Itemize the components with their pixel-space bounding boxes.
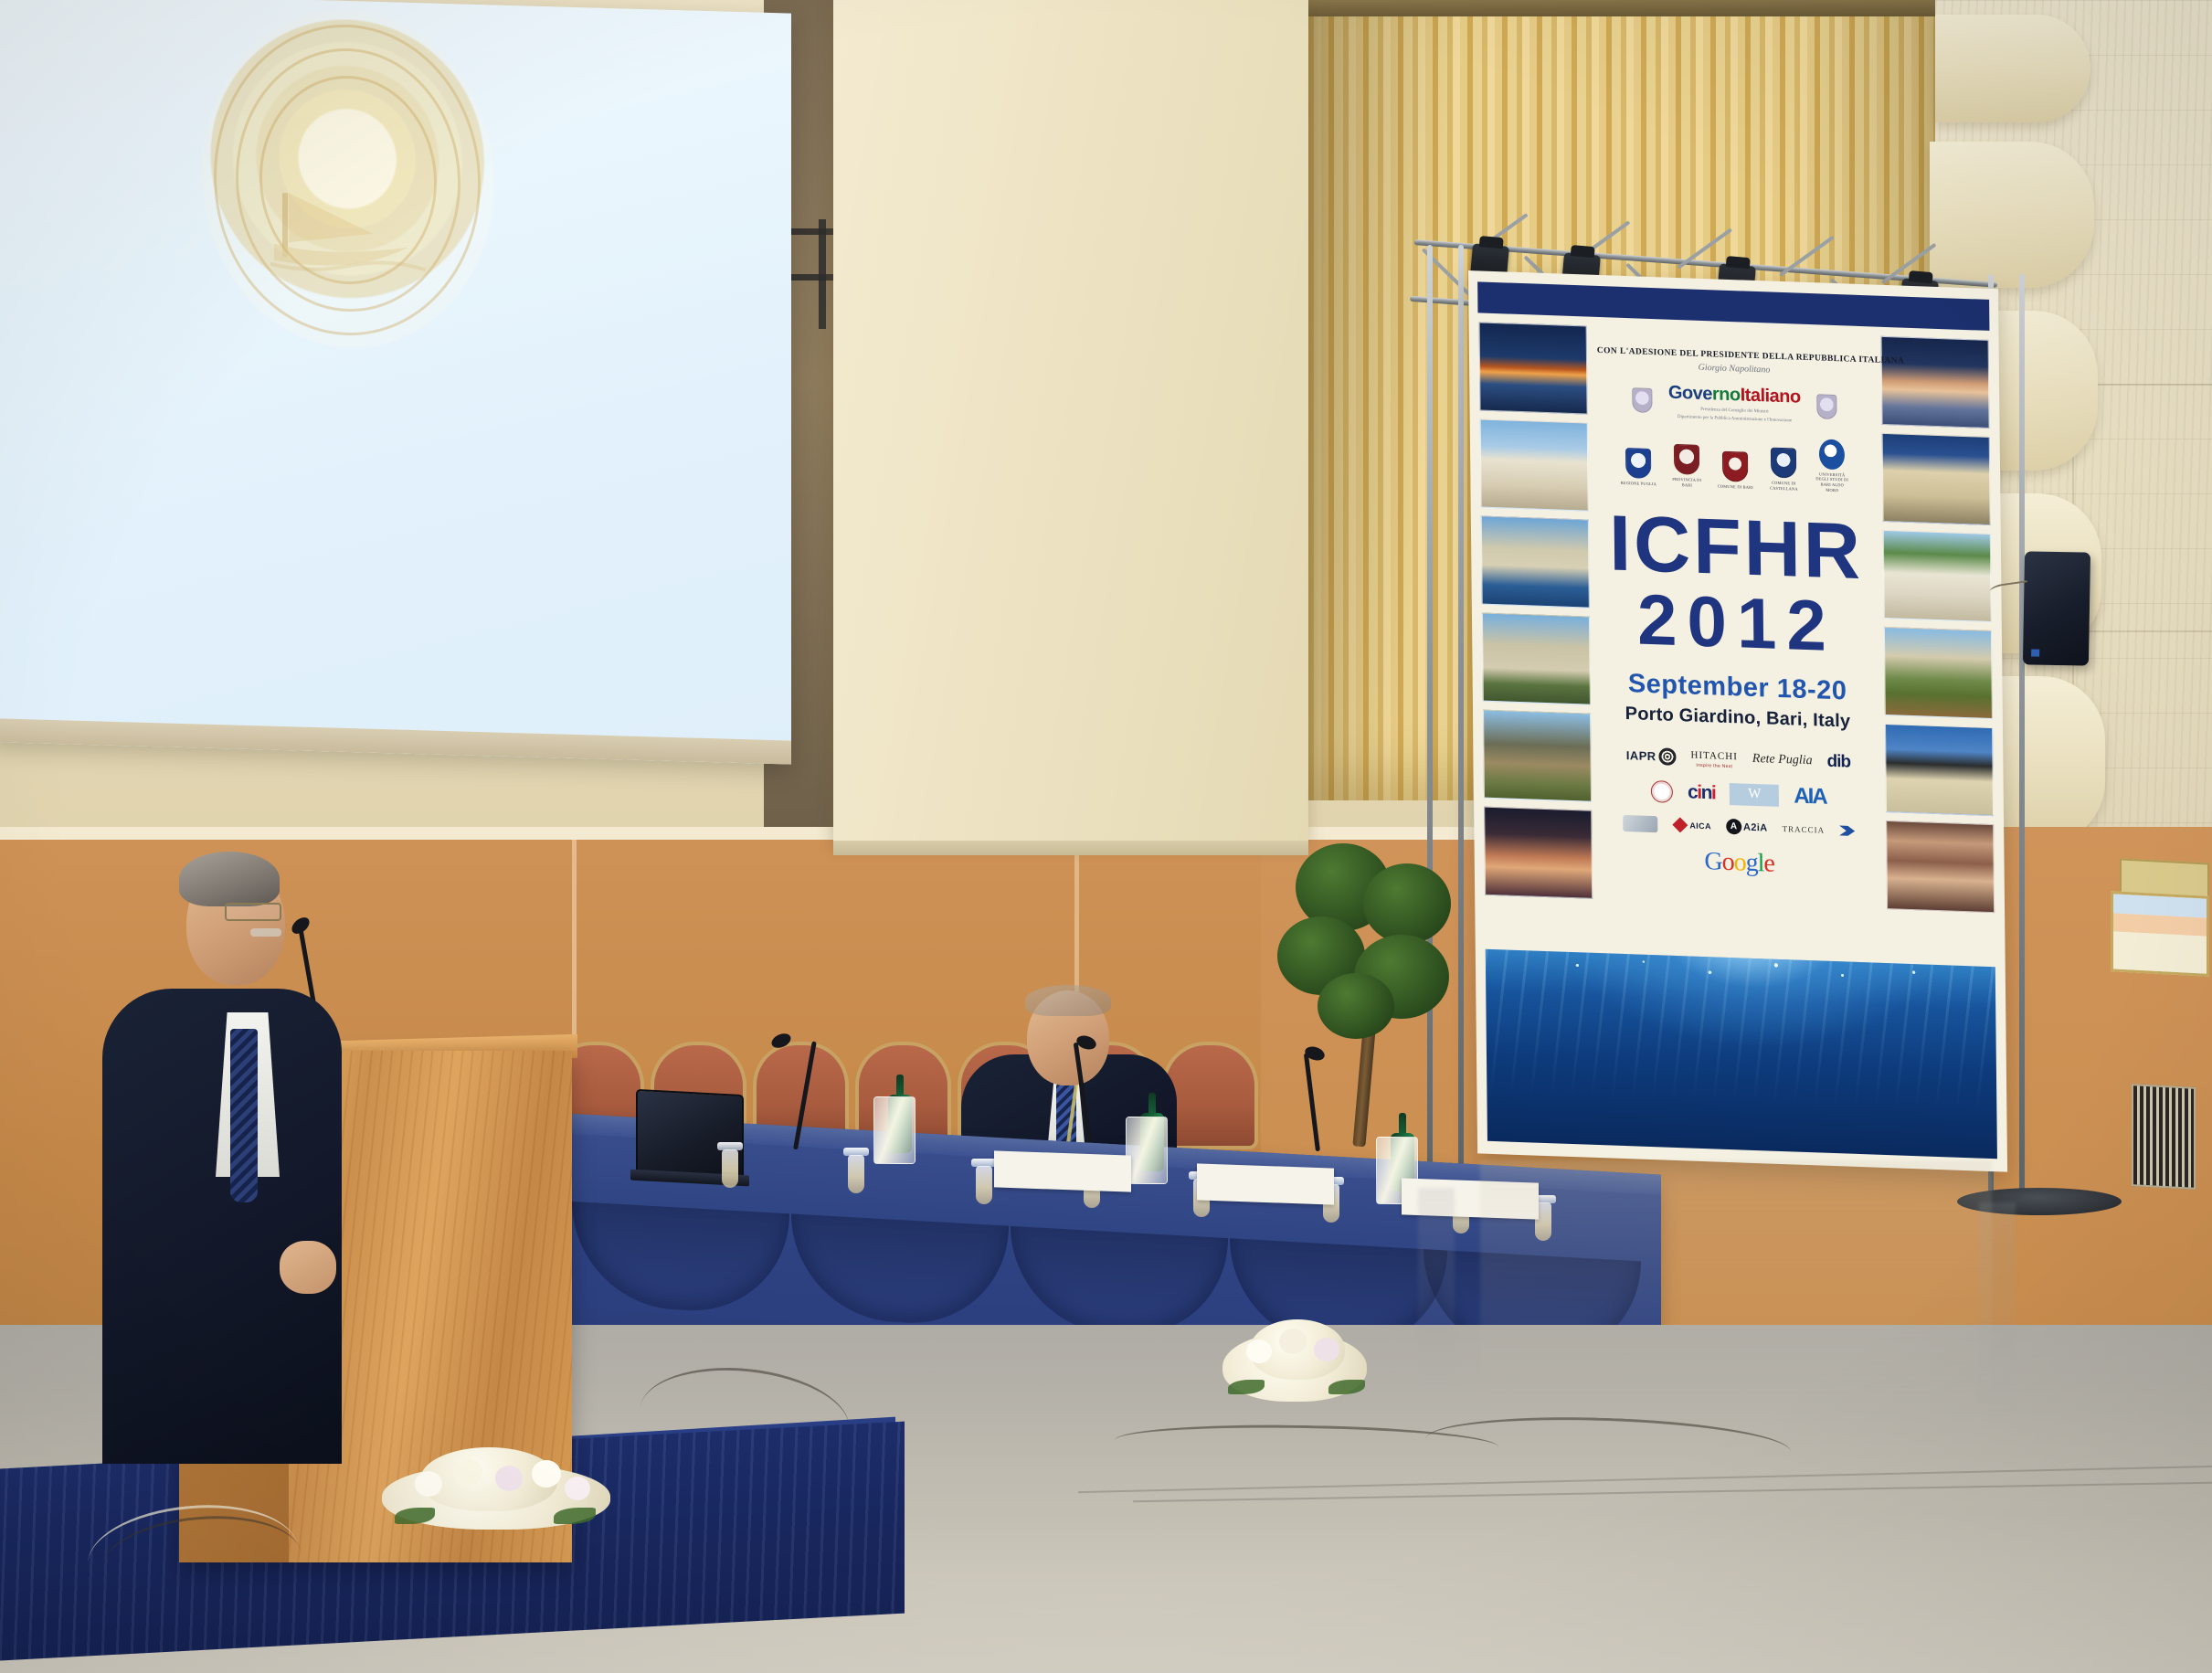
a2ia-dot-icon: A xyxy=(1726,819,1741,835)
railing-post xyxy=(819,219,826,329)
flower-arrangement-podium xyxy=(365,1440,640,1559)
poster-left-photo-strip xyxy=(1479,322,1593,898)
truss-reflection xyxy=(1418,1188,1455,1398)
poster-photo-trulli xyxy=(1883,530,1992,622)
poster-photo-harbour xyxy=(1481,515,1590,608)
poster-conference-location: Porto Giardino, Bari, Italy xyxy=(1601,703,1875,733)
aica-diamond-icon xyxy=(1672,817,1688,833)
speaker-hand xyxy=(280,1241,336,1294)
poster-institution-row: REGIONE PUGLIA PROVINCIA DI BARI COMUNE … xyxy=(1598,430,1873,493)
poster-reflection xyxy=(1480,1160,1992,1435)
poster-right-photo-strip xyxy=(1881,336,1995,913)
plant-foliage xyxy=(1363,863,1451,944)
poster-government-row: GovernoItaliano Presidenza del Consiglio… xyxy=(1597,380,1871,428)
plant-trunk xyxy=(1352,1028,1375,1148)
institution-regione-puglia: REGIONE PUGLIA xyxy=(1620,447,1656,486)
sponsor-iapr: IAPR xyxy=(1626,746,1677,766)
sponsor-row-1: IAPR HITACHI Inspire the Next Rete Pugli… xyxy=(1601,744,1875,774)
blackout-curtain-panel xyxy=(833,0,1308,849)
poster-photo-caves xyxy=(1886,821,1995,913)
sponsor-row-2: cini W AIA xyxy=(1602,777,1876,811)
speaker-hair xyxy=(179,852,280,906)
curtain-hem xyxy=(833,841,1308,855)
flower-arrangement-table xyxy=(1215,1316,1380,1425)
institution-comune-bari: COMUNE DI BARI xyxy=(1717,450,1753,490)
sponsor-row-3: AICA A A2iA TRACCIA xyxy=(1602,814,1876,840)
sponsor-google: Google xyxy=(1603,843,1877,882)
curtain-rod xyxy=(1308,0,1948,16)
table-cloth-swag xyxy=(1011,1226,1228,1340)
traccia-arrow-icon xyxy=(1839,822,1855,839)
table-cloth-swag xyxy=(791,1213,1009,1328)
fluted-cornice-block xyxy=(1935,15,2090,122)
republic-emblem-icon xyxy=(1632,388,1652,414)
sponsor-cini: cini xyxy=(1688,781,1715,804)
sponsor-aica: AICA xyxy=(1672,817,1711,833)
water-carafe[interactable] xyxy=(1126,1117,1168,1184)
governo-italiano-logo: GovernoItaliano xyxy=(1668,383,1801,408)
institution-provincia-bari: PROVINCIA DI BARI xyxy=(1668,444,1705,489)
poster-photo-cathedral xyxy=(1882,433,1991,525)
poster-sponsors: IAPR HITACHI Inspire the Next Rete Pugli… xyxy=(1601,744,1876,883)
republic-emblem-icon xyxy=(1817,395,1837,420)
sponsor-aia: AIA xyxy=(1794,783,1826,810)
poster-photo-basilica xyxy=(1480,418,1589,511)
eyeglasses-icon xyxy=(225,903,281,921)
seal-ship-emblem xyxy=(270,136,426,278)
sponsor-traccia: TRACCIA xyxy=(1783,824,1826,835)
sponsor-dib: dib xyxy=(1826,752,1850,773)
air-vent-grille xyxy=(2132,1084,2196,1190)
poster-photo-polignano xyxy=(1881,336,1990,429)
water-glass[interactable] xyxy=(714,1142,746,1190)
sponsor-a2ia: A A2iA xyxy=(1726,819,1768,836)
poster-photo-olive-tree xyxy=(1483,710,1592,802)
poster-photo-castle xyxy=(1482,613,1591,705)
institution-universita-bari: UNIVERSITÀ DEGLI STUDI DI BARI ALDO MORO xyxy=(1814,439,1851,493)
water-glass[interactable] xyxy=(841,1148,872,1195)
poster-photo-hilltop-town xyxy=(1884,627,1993,719)
sponsor-hitachi: HITACHI Inspire the Next xyxy=(1690,746,1738,769)
sponsor-siba-icon xyxy=(1651,780,1673,803)
poster-photo-dolmen xyxy=(1885,724,1994,816)
speaker-at-podium xyxy=(99,850,409,1489)
panelist-hair xyxy=(1025,985,1111,1016)
conference-hall-photo: CON L'ADESIONE DEL PRESIDENTE DELLA REPU… xyxy=(0,0,2212,1673)
speaker-led-icon xyxy=(2031,650,2039,657)
conference-poster: CON L'ADESIONE DEL PRESIDENTE DELLA REPU… xyxy=(1468,270,2007,1172)
speaker-tie xyxy=(230,1029,258,1202)
name-placard xyxy=(994,1150,1131,1191)
sponsor-rete-puglia: Rete Puglia xyxy=(1752,752,1813,768)
name-placard xyxy=(1197,1163,1334,1204)
poster-photo-castel-del-monte xyxy=(1484,807,1593,899)
sponsor-w-logo: W xyxy=(1730,783,1779,807)
poster-underwater-image xyxy=(1486,949,1997,1159)
poster-conference-dates: September 18-20 xyxy=(1600,668,1874,707)
plant-foliage xyxy=(1318,973,1394,1039)
institution-comune-castellana: COMUNE DI CASTELLANA xyxy=(1765,447,1802,492)
water-carafe[interactable] xyxy=(873,1096,915,1164)
speaker-suit-jacket xyxy=(102,989,342,1464)
projection-screen xyxy=(0,0,791,765)
iapr-spiral-icon xyxy=(1658,747,1676,766)
sponsor-icar-cnr-icon xyxy=(1623,815,1657,832)
fluted-cornice-block xyxy=(1930,142,2094,288)
table-cloth-swag xyxy=(572,1202,789,1316)
speaker-moustache xyxy=(250,928,281,937)
wall-speaker xyxy=(2023,551,2090,665)
poster-conference-name: ICFHR xyxy=(1599,506,1874,589)
wall-sign-safety-notice xyxy=(2111,891,2209,977)
poster-conference-year: 2012 xyxy=(1600,582,1875,664)
poster-photo-bari-waterfront xyxy=(1479,322,1588,414)
